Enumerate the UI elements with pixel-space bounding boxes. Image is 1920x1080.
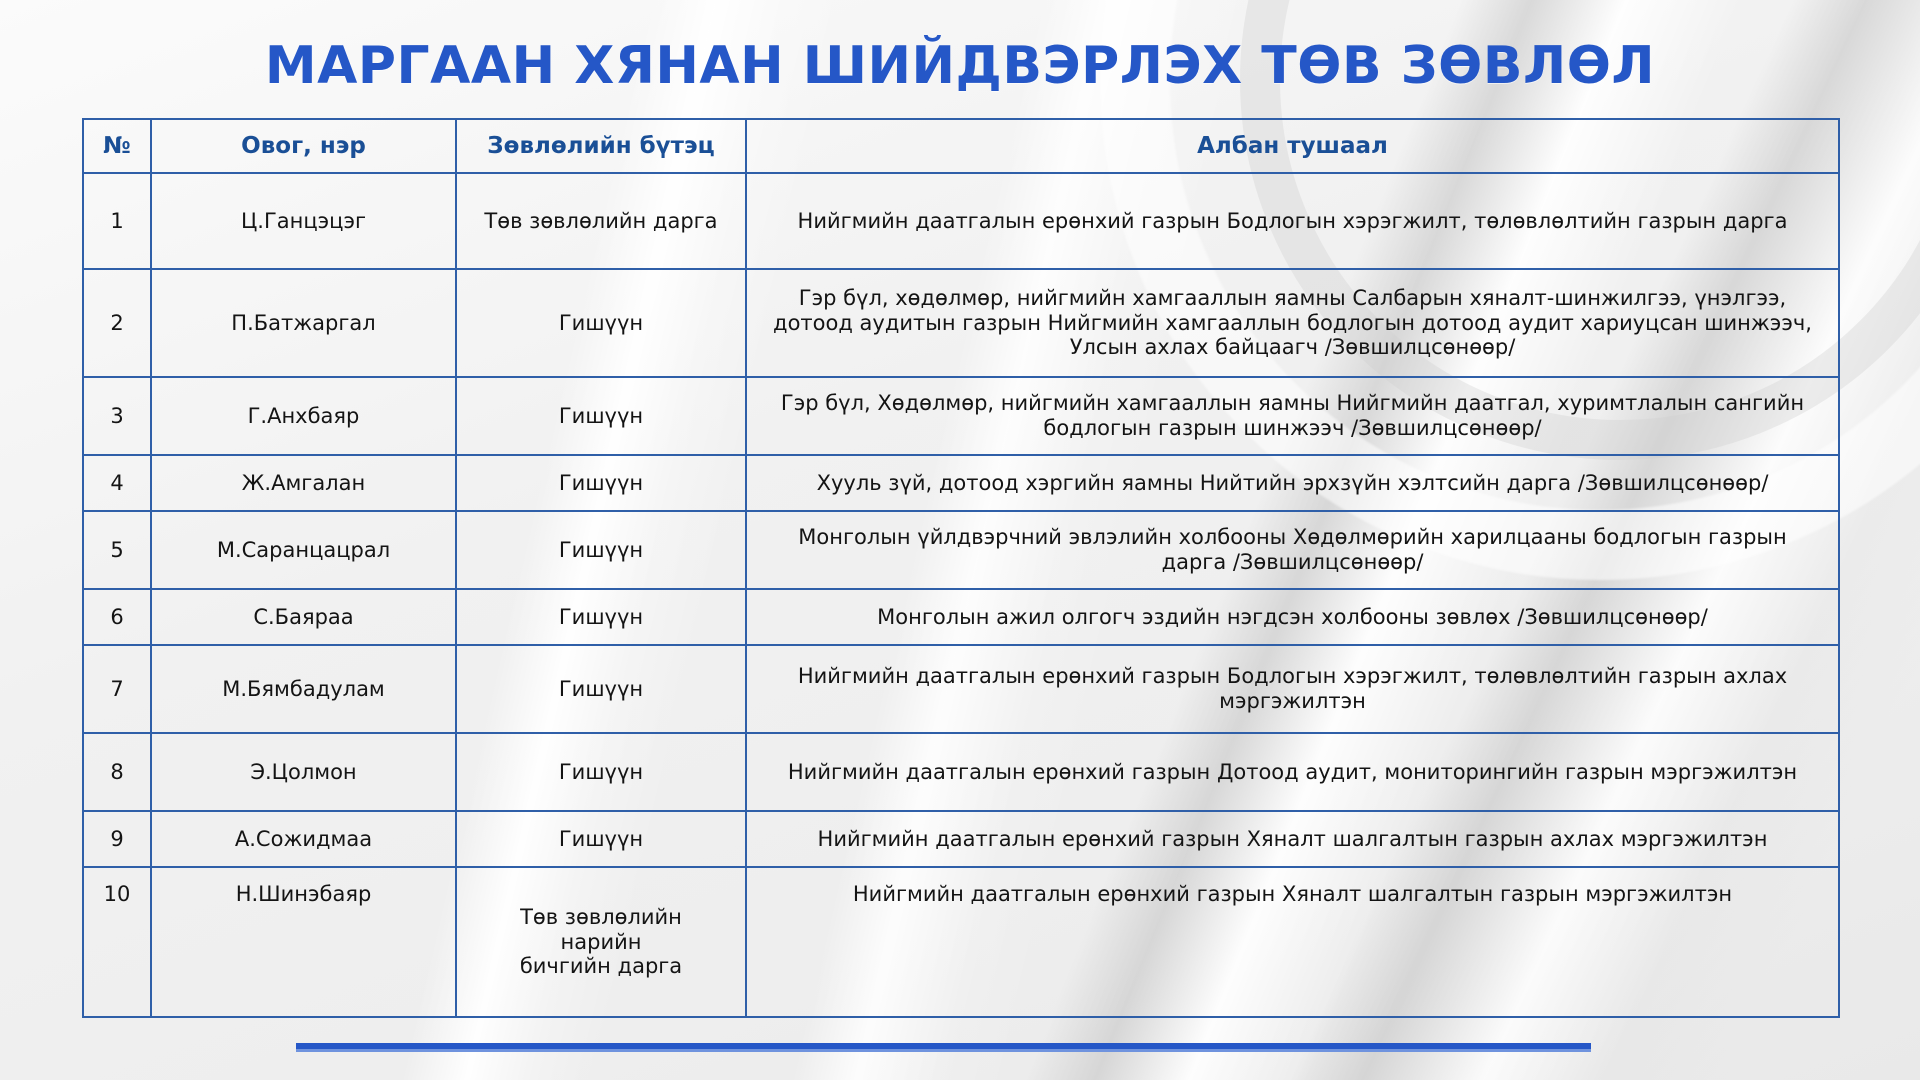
table-row: 3 Г.Анхбаяр Гишүүн Гэр бүл, Хөдөлмөр, ни… [83, 377, 1839, 455]
row-number: 5 [83, 511, 151, 589]
row-position: Хууль зүй, дотоод хэргийн яамны Нийтийн … [746, 455, 1839, 511]
column-header-position: Албан тушаал [746, 119, 1839, 173]
table-row: 7 М.Бямбадулам Гишүүн Нийгмийн даатгалын… [83, 645, 1839, 733]
table-row: 2 П.Батжаргал Гишүүн Гэр бүл, хөдөлмөр, … [83, 269, 1839, 377]
council-table-container: № Овог, нэр Зөвлөлийн бүтэц Албан тушаал… [82, 118, 1838, 1018]
table-row: 1 Ц.Ганцэцэг Төв зөвлөлийн дарга Нийгмий… [83, 173, 1839, 269]
row-member-name: С.Баяраа [151, 589, 456, 645]
row-council-role: Гишүүн [456, 589, 746, 645]
row-number: 8 [83, 733, 151, 811]
row-member-name: Ц.Ганцэцэг [151, 173, 456, 269]
row-member-name: М.Бямбадулам [151, 645, 456, 733]
row-council-role: Гишүүн [456, 811, 746, 867]
row-council-role: Төв зөвлөлийн нарийн бичгийн дарга [456, 867, 746, 1017]
row-council-role: Гишүүн [456, 511, 746, 589]
column-header-name: Овог, нэр [151, 119, 456, 173]
row-position: Нийгмийн даатгалын ерөнхий газрын Бодлог… [746, 173, 1839, 269]
row-number: 2 [83, 269, 151, 377]
row-number: 7 [83, 645, 151, 733]
row-position: Нийгмийн даатгалын ерөнхий газрын Дотоод… [746, 733, 1839, 811]
row-position: Нийгмийн даатгалын ерөнхий газрын Хяналт… [746, 811, 1839, 867]
table-row: 9 А.Сожидмаа Гишүүн Нийгмийн даатгалын е… [83, 811, 1839, 867]
table-row: 6 С.Баяраа Гишүүн Монголын ажил олгогч э… [83, 589, 1839, 645]
row-member-name: П.Батжаргал [151, 269, 456, 377]
footer-accent-bar [296, 1043, 1591, 1052]
row-position: Монголын ажил олгогч эздийн нэгдсэн холб… [746, 589, 1839, 645]
row-member-name: М.Саранцацрал [151, 511, 456, 589]
row-council-role: Төв зөвлөлийн дарга [456, 173, 746, 269]
slide-page: МАРГААН ХЯНАН ШИЙДВЭРЛЭХ ТӨВ ЗӨВЛӨЛ № Ов… [0, 0, 1920, 1080]
row-position: Нийгмийн даатгалын ерөнхий газрын Хяналт… [746, 867, 1839, 1017]
row-position: Гэр бүл, Хөдөлмөр, нийгмийн хамгааллын я… [746, 377, 1839, 455]
column-header-role: Зөвлөлийн бүтэц [456, 119, 746, 173]
row-number: 9 [83, 811, 151, 867]
row-member-name: Э.Цолмон [151, 733, 456, 811]
row-council-role: Гишүүн [456, 377, 746, 455]
row-member-name: А.Сожидмаа [151, 811, 456, 867]
row-council-role: Гишүүн [456, 733, 746, 811]
row-member-name: Н.Шинэбаяр [151, 867, 456, 1017]
table-row: 4 Ж.Амгалан Гишүүн Хууль зүй, дотоод хэр… [83, 455, 1839, 511]
row-number: 4 [83, 455, 151, 511]
row-number: 10 [83, 867, 151, 1017]
row-position: Гэр бүл, хөдөлмөр, нийгмийн хамгааллын я… [746, 269, 1839, 377]
table-row: 8 Э.Цолмон Гишүүн Нийгмийн даатгалын ерө… [83, 733, 1839, 811]
table-row: 10 Н.Шинэбаяр Төв зөвлөлийн нарийн бичги… [83, 867, 1839, 1017]
table-body: 1 Ц.Ганцэцэг Төв зөвлөлийн дарга Нийгмий… [83, 173, 1839, 1017]
row-number: 3 [83, 377, 151, 455]
table-header: № Овог, нэр Зөвлөлийн бүтэц Албан тушаал [83, 119, 1839, 173]
row-member-name: Ж.Амгалан [151, 455, 456, 511]
table-row: 5 М.Саранцацрал Гишүүн Монголын үйлдвэрч… [83, 511, 1839, 589]
row-position: Монголын үйлдвэрчний эвлэлийн холбооны Х… [746, 511, 1839, 589]
row-number: 1 [83, 173, 151, 269]
council-table: № Овог, нэр Зөвлөлийн бүтэц Албан тушаал… [82, 118, 1840, 1018]
column-header-number: № [83, 119, 151, 173]
row-member-name: Г.Анхбаяр [151, 377, 456, 455]
page-title: МАРГААН ХЯНАН ШИЙДВЭРЛЭХ ТӨВ ЗӨВЛӨЛ [0, 0, 1920, 118]
row-council-role: Гишүүн [456, 269, 746, 377]
table-header-row: № Овог, нэр Зөвлөлийн бүтэц Албан тушаал [83, 119, 1839, 173]
row-council-role: Гишүүн [456, 455, 746, 511]
row-council-role: Гишүүн [456, 645, 746, 733]
row-position: Нийгмийн даатгалын ерөнхий газрын Бодлог… [746, 645, 1839, 733]
row-number: 6 [83, 589, 151, 645]
